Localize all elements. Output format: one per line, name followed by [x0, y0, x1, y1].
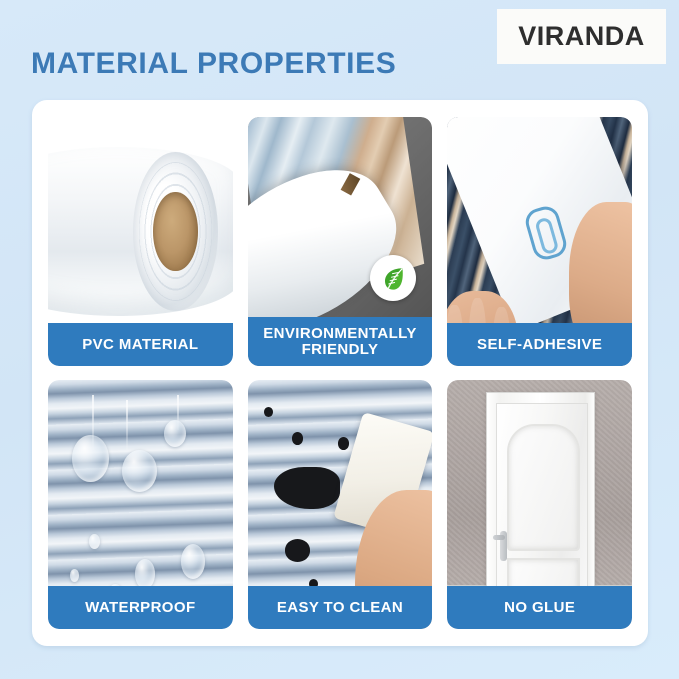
page-title: MATERIAL PROPERTIES: [31, 47, 396, 81]
water-droplet: [72, 435, 109, 482]
water-droplet: [89, 534, 100, 549]
water-droplet: [135, 559, 155, 589]
eco-leaf-badge: [370, 255, 416, 301]
feature-label-environmentally-friendly: ENVIRONMENTALLY FRIENDLY: [248, 317, 433, 366]
brand-logo: VIRANDA: [497, 9, 666, 64]
feature-tile-no-glue: NO GLUE: [447, 380, 632, 629]
feature-tile-waterproof: WATERPROOF: [48, 380, 233, 629]
feature-card: PVC MATERIAL: [32, 100, 648, 646]
feature-label-self-adhesive: SELF-ADHESIVE: [447, 323, 632, 366]
feature-label-waterproof: WATERPROOF: [48, 586, 233, 629]
brand-name: VIRANDA: [518, 21, 645, 52]
feature-tile-self-adhesive: SELF-ADHESIVE: [447, 117, 632, 366]
door-panel-top: [507, 424, 579, 551]
feature-label-easy-to-clean: EASY TO CLEAN: [248, 586, 433, 629]
feature-label-no-glue: NO GLUE: [447, 586, 632, 629]
feature-tile-pvc-material: PVC MATERIAL: [48, 117, 233, 366]
ink-stain: [285, 539, 311, 561]
infographic-page: VIRANDA MATERIAL PROPERTIES PVC MATERIAL: [0, 0, 679, 679]
green-leaf-icon: [379, 264, 407, 292]
eco-curl-tip: [341, 172, 361, 195]
water-droplet: [181, 544, 205, 579]
feature-tile-easy-to-clean: EASY TO CLEAN: [248, 380, 433, 629]
door-handle: [500, 531, 507, 561]
ink-stain: [292, 432, 303, 444]
droplet-streak: [126, 400, 128, 450]
feature-tile-environmentally-friendly: ENVIRONMENTALLY FRIENDLY: [248, 117, 433, 366]
roll-cardboard-core: [153, 192, 197, 272]
feature-grid: PVC MATERIAL: [48, 117, 632, 629]
feature-label-pvc-material: PVC MATERIAL: [48, 323, 233, 366]
ink-stain: [338, 437, 349, 449]
water-droplet: [122, 450, 157, 492]
